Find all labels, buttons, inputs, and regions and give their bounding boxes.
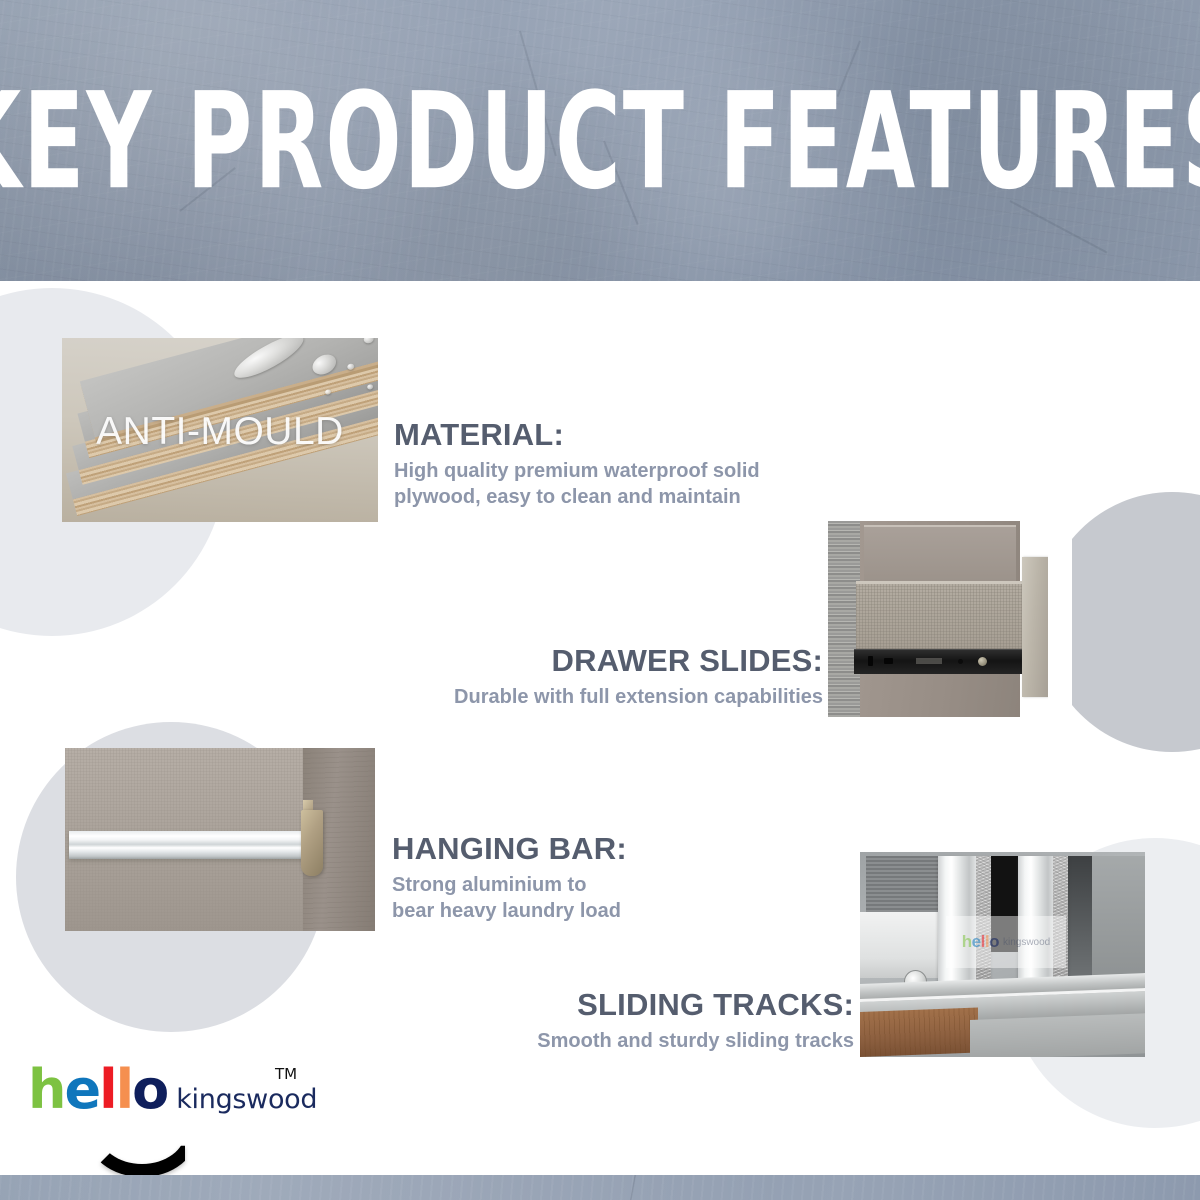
texture-crack [620, 1175, 646, 1200]
aluminium-hanging-rail [69, 831, 313, 859]
smile-icon [86, 1121, 198, 1177]
logo-brand-word: kingswood [176, 1084, 317, 1115]
feature-material-text: MATERIAL: High quality premium waterproo… [394, 418, 760, 511]
description-line: Smooth and sturdy sliding tracks [340, 1028, 854, 1054]
page-title: KEY PRODUCT FEATURES [24, 0, 1176, 320]
photo-white-margin [1048, 513, 1072, 722]
description-line: plywood, easy to clean and maintain [394, 484, 760, 510]
cabinet-interior [864, 525, 1016, 585]
logo-hello-text: hello [28, 1063, 167, 1117]
rail-support-bracket [301, 810, 323, 876]
drawer-front-panel [1022, 557, 1048, 697]
photo-watermark: hello kingswood [946, 916, 1066, 968]
feature-material-description: High quality premium waterproof solid pl… [394, 458, 760, 511]
feature-hanging-bar-heading: HANGING BAR: [392, 832, 627, 867]
brand-logo: hello kingswood TM [28, 1063, 318, 1167]
watermark-brand-text: kingswood [1003, 937, 1050, 948]
rail-screw [978, 657, 987, 666]
feature-drawer-slides-heading: DRAWER SLIDES: [320, 644, 823, 679]
rail-slot [884, 658, 893, 664]
anti-mould-overlay-label: ANTI-MOULD [62, 410, 378, 454]
white-cabinet-body [860, 912, 946, 978]
description-line: Durable with full extension capabilities [320, 684, 823, 710]
feature-hanging-bar-text: HANGING BAR: Strong aluminium to bear he… [392, 832, 627, 925]
door-gap-shadow [1066, 856, 1092, 976]
water-droplet-icon [229, 338, 308, 385]
feature-drawer-slides-text: DRAWER SLIDES: Durable with full extensi… [320, 644, 823, 710]
sliding-tracks-photo: hello kingswood [860, 852, 1145, 1057]
logo-letter-l-red: l [99, 1063, 116, 1117]
drawer-slides-photo [828, 513, 1072, 722]
plywood-photo: ANTI-MOULD [62, 338, 378, 522]
feature-sliding-tracks-description: Smooth and sturdy sliding tracks [340, 1028, 854, 1054]
louvre-panel [866, 856, 938, 914]
logo-letter-h: h [28, 1063, 64, 1117]
trademark-symbol: TM [275, 1065, 297, 1083]
description-line: bear heavy laundry load [392, 898, 627, 924]
rail-hole [958, 659, 963, 664]
feature-sliding-tracks-heading: SLIDING TRACKS: [340, 988, 854, 1023]
drawer-box [856, 581, 1024, 650]
rail-slot [868, 656, 873, 666]
drawer-slide-rail [854, 649, 1030, 674]
description-line: Strong aluminium to [392, 872, 627, 898]
footer-bar [0, 1175, 1200, 1200]
logo-letter-o: o [132, 1063, 167, 1117]
key-product-features-poster: KEY PRODUCT FEATURES [0, 0, 1200, 1200]
hanging-bar-photo [65, 748, 375, 931]
feature-hanging-bar-description: Strong aluminium to bear heavy laundry l… [392, 872, 627, 925]
water-droplet-icon [363, 338, 375, 344]
rail-brand-marking [916, 658, 942, 664]
wardrobe-interior [1092, 856, 1145, 988]
floor-surface [970, 1013, 1145, 1057]
description-line: High quality premium waterproof solid [394, 458, 760, 484]
logo-letter-e: e [64, 1063, 99, 1117]
logo-wordmark: hello kingswood [28, 1063, 317, 1117]
wood-floor-edge [860, 1007, 978, 1057]
feature-material-heading: MATERIAL: [394, 418, 760, 453]
feature-sliding-tracks-text: SLIDING TRACKS: Smooth and sturdy slidin… [340, 988, 854, 1054]
watermark-hello-text: hello [962, 932, 999, 952]
logo-letter-l-orange: l [116, 1063, 133, 1117]
feature-drawer-slides-description: Durable with full extension capabilities [320, 684, 823, 710]
